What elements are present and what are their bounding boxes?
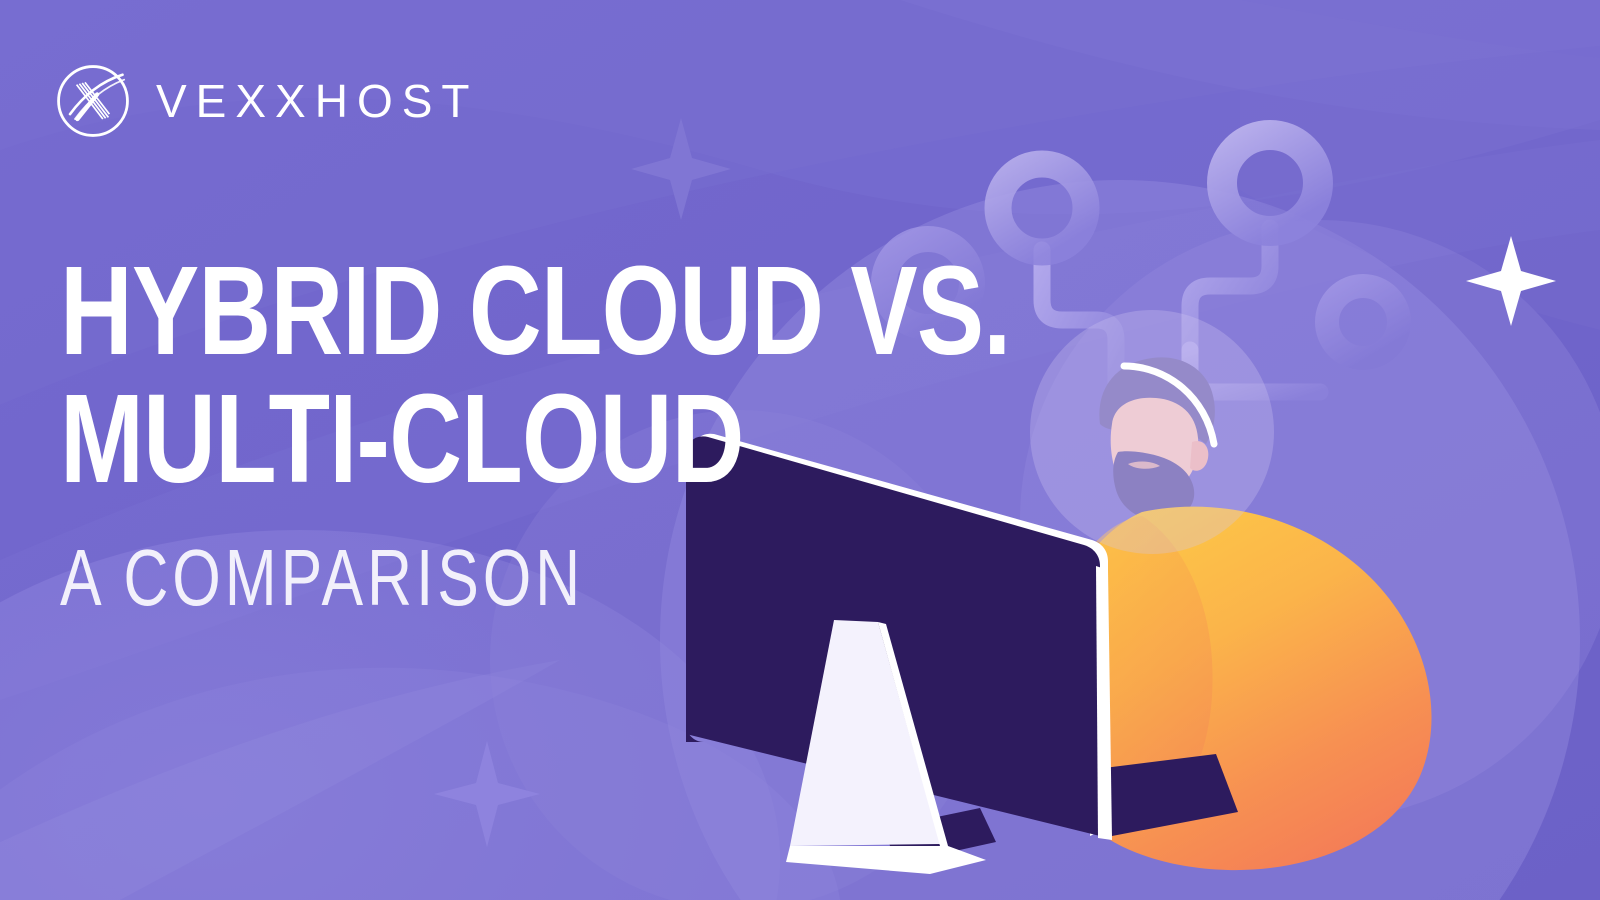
headline-line-2: MULTI-CLOUD xyxy=(60,378,716,500)
cloud-node-4 xyxy=(1327,286,1399,358)
sparkle-bottom-left xyxy=(434,741,540,847)
sparkle-top-right xyxy=(1466,236,1556,326)
headline-subtitle: A COMPARISON xyxy=(60,538,700,618)
highlight-bubble xyxy=(1030,310,1274,554)
headline-block: HYBRID CLOUD VS. MULTI-CLOUD A COMPARISO… xyxy=(60,250,880,618)
vexxhost-logo[interactable]: VEXXHOST xyxy=(52,60,479,142)
headline-line-1: HYBRID CLOUD VS. xyxy=(60,250,716,372)
banner-root: VEXXHOST HYBRID CLOUD VS. MULTI-CLOUD A … xyxy=(0,0,1600,900)
vexxhost-x-circle-logo-icon xyxy=(52,60,134,142)
sparkle-top-left xyxy=(631,118,731,220)
cloud-node-3 xyxy=(1222,135,1318,231)
cloud-node-2 xyxy=(998,164,1086,252)
vexxhost-wordmark: VEXXHOST xyxy=(156,78,479,124)
